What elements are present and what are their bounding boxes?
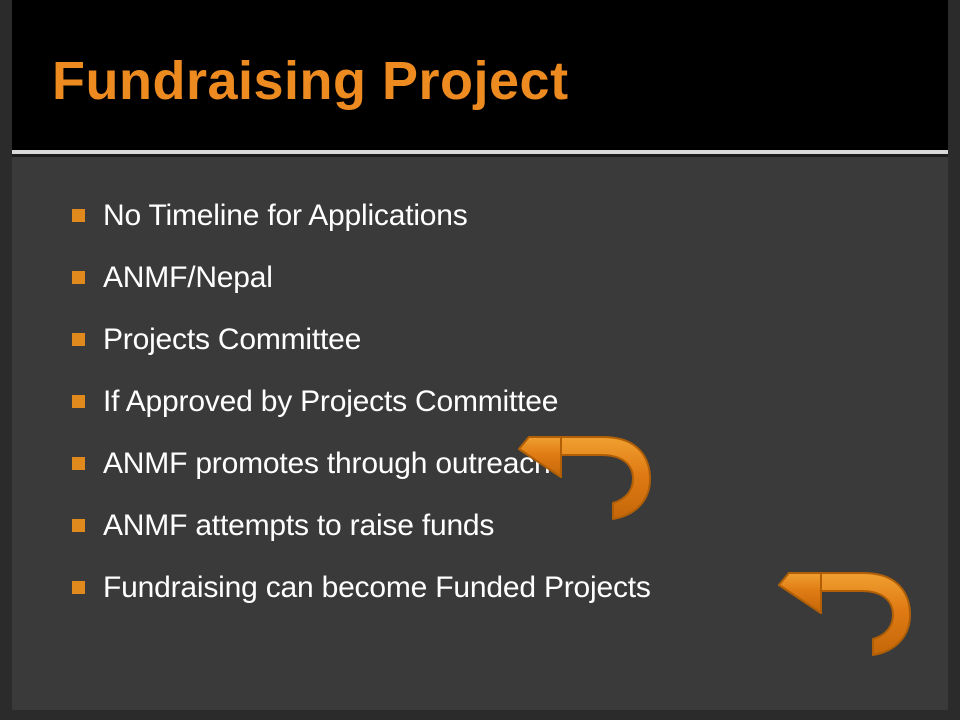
square-bullet-icon — [72, 395, 85, 408]
list-item: ANMF attempts to raise funds — [72, 507, 902, 545]
square-bullet-icon — [72, 457, 85, 470]
curved-arrow-left-icon — [517, 419, 652, 534]
list-item: If Approved by Projects Committee — [72, 383, 902, 421]
list-item-label: ANMF/Nepal — [103, 259, 273, 297]
list-item: ANMF/Nepal — [72, 259, 902, 297]
list-item-label: If Approved by Projects Committee — [103, 383, 558, 421]
list-item-label: ANMF promotes through outreach — [103, 445, 551, 483]
slide-frame-bottom — [0, 710, 960, 720]
list-item: Projects Committee — [72, 321, 902, 359]
slide-body: No Timeline for Applications ANMF/Nepal … — [12, 157, 948, 710]
list-item: ANMF promotes through outreach — [72, 445, 902, 483]
list-item-label: ANMF attempts to raise funds — [103, 507, 494, 545]
list-item: No Timeline for Applications — [72, 197, 902, 235]
square-bullet-icon — [72, 581, 85, 594]
list-item-label: Fundraising can become Funded Projects — [103, 569, 651, 607]
square-bullet-icon — [72, 333, 85, 346]
curved-arrow-left-icon — [777, 555, 912, 670]
square-bullet-icon — [72, 209, 85, 222]
slide-frame-right — [948, 0, 960, 720]
slide: Fundraising Project No Timeline for Appl… — [0, 0, 960, 720]
list-item-label: Projects Committee — [103, 321, 361, 359]
slide-frame-left — [0, 0, 12, 720]
square-bullet-icon — [72, 519, 85, 532]
list-item-label: No Timeline for Applications — [103, 197, 468, 235]
square-bullet-icon — [72, 271, 85, 284]
page-title: Fundraising Project — [52, 50, 569, 112]
